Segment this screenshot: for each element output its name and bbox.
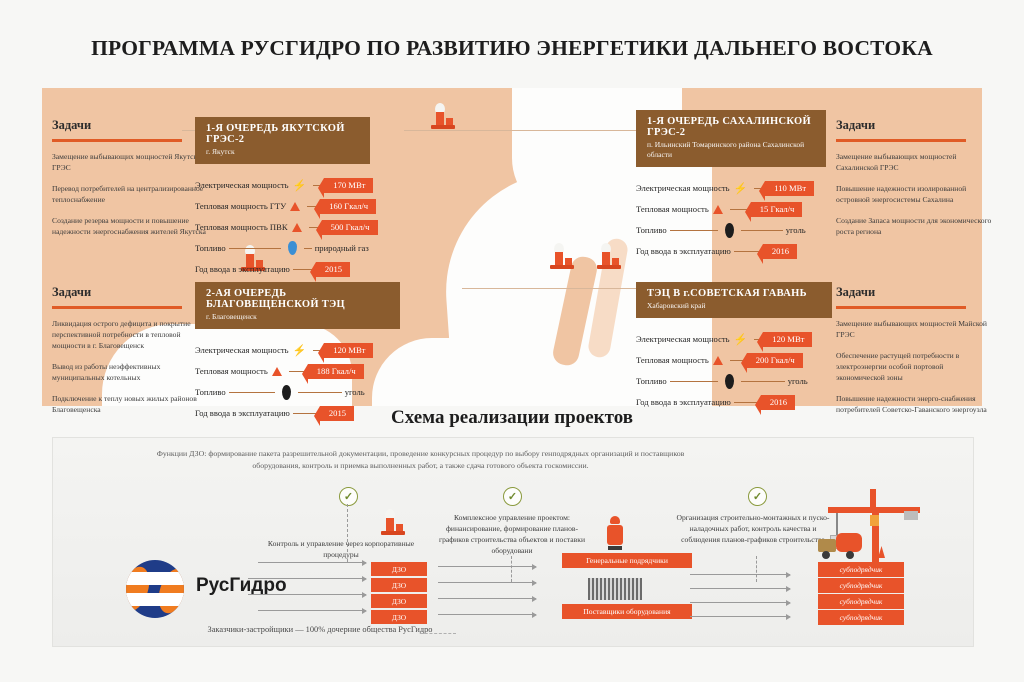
general-contractors-tag[interactable]: Генеральные подрядчики bbox=[562, 553, 692, 568]
task-item: Замещение выбывающих мощностей Якутской … bbox=[52, 151, 210, 173]
triangle-icon bbox=[292, 223, 302, 232]
bolt-icon: ⚡ bbox=[293, 344, 307, 357]
dzo-box[interactable]: ДЗО bbox=[371, 562, 427, 576]
station-name: ТЭЦ В г.СОВЕТСКАЯ ГАВАНЬ bbox=[647, 288, 823, 299]
row-label: Тепловая мощность bbox=[636, 204, 709, 214]
task-item: Перевод потребителей на централизированн… bbox=[52, 183, 210, 205]
flow-arrow bbox=[438, 598, 536, 599]
plant-icon-dzo bbox=[378, 512, 408, 538]
bolt-icon: ⚡ bbox=[734, 182, 748, 195]
flow-arrow bbox=[248, 594, 366, 595]
station-name: 1-Я ОЧЕРЕДЬ ЯКУТСКОЙ ГРЭС-2 bbox=[206, 123, 361, 145]
tasks-rule bbox=[52, 306, 182, 309]
row-value: 120 МВт bbox=[324, 343, 373, 358]
station-row: Топливо уголь bbox=[195, 382, 400, 403]
caption-project-management: Комплексное управление проектом: финанси… bbox=[432, 512, 592, 556]
station-row: Топливо уголь bbox=[636, 220, 826, 241]
dashed-line bbox=[420, 633, 456, 634]
station-row: Год ввода в эксплуатацию 2016 bbox=[636, 241, 826, 262]
row-label: Год ввода в эксплуатацию bbox=[636, 397, 731, 407]
row-value: 170 МВт bbox=[324, 178, 373, 193]
map-connector-4 bbox=[462, 288, 642, 289]
row-label: Топливо bbox=[636, 376, 667, 386]
subcontractor-box[interactable]: субподрядчик bbox=[818, 594, 904, 609]
dzo-functions-note: Функции ДЗО: формирование пакета разреши… bbox=[148, 448, 693, 472]
plant-marker-sovgavan bbox=[547, 246, 577, 272]
station-card-sakhalinskaya: 1-Я ОЧЕРЕДЬ САХАЛИНСКОЙ ГРЭС-2 п. Ильинс… bbox=[636, 110, 826, 262]
station-row: Год ввода в эксплуатацию 2015 bbox=[195, 259, 370, 280]
footer-note: Заказчики-застройщики — 100% дочерние об… bbox=[110, 625, 530, 634]
tasks-rule bbox=[836, 139, 966, 142]
dzo-box[interactable]: ДЗО bbox=[371, 578, 427, 592]
tasks-panel-sakhalin: Задачи Замещение выбывающих мощностей Са… bbox=[836, 118, 994, 247]
row-value: 120 МВт bbox=[763, 332, 812, 347]
dzo-box[interactable]: ДЗО bbox=[371, 594, 427, 608]
gas-drop-icon bbox=[288, 241, 297, 255]
row-label: Тепловая мощность bbox=[195, 366, 268, 376]
row-label: Электрическая мощность bbox=[636, 334, 730, 344]
row-value: 188 Гкал/ч bbox=[308, 364, 364, 379]
task-item: Повышение надежности изолированной остро… bbox=[836, 183, 994, 205]
tasks-heading: Задачи bbox=[52, 118, 210, 133]
flow-arrow bbox=[248, 578, 366, 579]
map-sea-south bbox=[372, 338, 672, 406]
flow-arrow bbox=[438, 582, 536, 583]
station-row: Тепловая мощность 15 Гкал/ч bbox=[636, 199, 826, 220]
flow-arrow bbox=[258, 610, 366, 611]
station-header: 1-Я ОЧЕРЕДЬ ЯКУТСКОЙ ГРЭС-2 г. Якутск bbox=[195, 117, 370, 164]
row-value: 500 Гкал/ч bbox=[322, 220, 378, 235]
station-row: Топливо природный газ bbox=[195, 238, 370, 259]
row-value: 160 Гкал/ч bbox=[320, 199, 376, 214]
triangle-icon bbox=[272, 367, 282, 376]
subcontractor-box[interactable]: субподрядчик bbox=[818, 578, 904, 593]
task-item: Обеспечение растущей потребности в элект… bbox=[836, 350, 994, 383]
task-item: Замещение выбывающих мощностей Сахалинск… bbox=[836, 151, 994, 173]
dashed-connector bbox=[756, 556, 757, 582]
caption-construction: Организация строительно-монтажных и пуск… bbox=[672, 512, 834, 545]
tasks-heading: Задачи bbox=[52, 285, 210, 300]
subcontractor-box[interactable]: субподрядчик bbox=[818, 562, 904, 577]
task-item: Вывод из работы неэффективных муниципаль… bbox=[52, 361, 210, 383]
station-rows: Электрическая мощность ⚡ 110 МВт Теплова… bbox=[636, 167, 826, 262]
station-card-blagoveshchenskaya: 2-АЯ ОЧЕРЕДЬ БЛАГОВЕЩЕНСКОЙ ТЭЦ г. Благо… bbox=[195, 282, 400, 424]
flow-arrow bbox=[690, 574, 790, 575]
row-label: Тепловая мощность bbox=[636, 355, 709, 365]
coal-icon bbox=[282, 385, 291, 400]
station-location: п. Ильинский Томаринского района Сахалин… bbox=[647, 140, 817, 160]
triangle-icon bbox=[713, 205, 723, 214]
caption-control: Контроль и управление через корпоративны… bbox=[252, 538, 430, 560]
tasks-rule bbox=[836, 306, 966, 309]
station-header: 1-Я ОЧЕРЕДЬ САХАЛИНСКОЙ ГРЭС-2 п. Ильинс… bbox=[636, 110, 826, 167]
equipment-suppliers-tag[interactable]: Поставщики оборудования bbox=[562, 604, 692, 619]
check-icon: ✓ bbox=[339, 487, 358, 506]
concrete-mixer-icon bbox=[818, 533, 866, 561]
task-item: Ликвидация острого дефицита и покрытие п… bbox=[52, 318, 210, 351]
row-label: Электрическая мощность bbox=[195, 345, 289, 355]
station-rows: Электрическая мощность ⚡ 170 МВт Теплова… bbox=[195, 164, 370, 280]
station-row: Топливо уголь bbox=[636, 371, 832, 392]
station-header: ТЭЦ В г.СОВЕТСКАЯ ГАВАНЬ Хабаровский кра… bbox=[636, 282, 832, 318]
worker-icon bbox=[604, 516, 626, 550]
flow-arrow bbox=[438, 614, 536, 615]
flow-arrow bbox=[690, 616, 790, 617]
dzo-box[interactable]: ДЗО bbox=[371, 610, 427, 624]
tasks-rule bbox=[52, 139, 182, 142]
station-row: Тепловая мощность ГТУ 160 Гкал/ч bbox=[195, 196, 370, 217]
tasks-heading: Задачи bbox=[836, 118, 994, 133]
coal-icon bbox=[725, 374, 734, 389]
station-row: Электрическая мощность ⚡ 170 МВт bbox=[195, 175, 370, 196]
task-item: Создание резерва мощности и повышение на… bbox=[52, 215, 210, 237]
triangle-icon bbox=[713, 356, 723, 365]
row-label: Топливо bbox=[636, 225, 667, 235]
task-item: Замещение выбывающих мощностей Майской Г… bbox=[836, 318, 994, 340]
row-value: 2015 bbox=[316, 262, 350, 277]
station-name: 2-АЯ ОЧЕРЕДЬ БЛАГОВЕЩЕНСКОЙ ТЭЦ bbox=[206, 288, 391, 310]
check-icon: ✓ bbox=[503, 487, 522, 506]
page-title: ПРОГРАММА РУСГИДРО ПО РАЗВИТИЮ ЭНЕРГЕТИК… bbox=[0, 36, 1024, 61]
row-label: Топливо bbox=[195, 387, 226, 397]
rushydro-logo-icon bbox=[126, 560, 188, 618]
row-value: 200 Гкал/ч bbox=[747, 353, 803, 368]
tasks-heading: Задачи bbox=[836, 285, 994, 300]
section-heading: Схема реализации проектов bbox=[0, 407, 1024, 429]
row-label: Тепловая мощность ГТУ bbox=[195, 201, 286, 211]
row-label: Топливо bbox=[195, 243, 226, 253]
station-location: Хабаровский край bbox=[647, 301, 823, 311]
tasks-panel-blagoveshchensk: Задачи Ликвидация острого дефицита и пок… bbox=[52, 285, 210, 425]
row-value: 2016 bbox=[763, 244, 797, 259]
station-location: г. Якутск bbox=[206, 147, 361, 157]
tasks-panel-sovgavan: Задачи Замещение выбывающих мощностей Ма… bbox=[836, 285, 994, 425]
flow-arrow bbox=[258, 562, 366, 563]
plant-marker-sakhalin bbox=[594, 246, 624, 272]
station-row: Тепловая мощность 200 Гкал/ч bbox=[636, 350, 832, 371]
task-item: Создание Запаса мощности для экономическ… bbox=[836, 215, 994, 237]
row-label: Электрическая мощность bbox=[636, 183, 730, 193]
row-value: природный газ bbox=[315, 243, 369, 253]
check-icon: ✓ bbox=[748, 487, 767, 506]
flow-arrow bbox=[690, 602, 790, 603]
station-header: 2-АЯ ОЧЕРЕДЬ БЛАГОВЕЩЕНСКОЙ ТЭЦ г. Благо… bbox=[195, 282, 400, 329]
station-location: г. Благовещенск bbox=[206, 312, 391, 322]
bolt-icon: ⚡ bbox=[734, 333, 748, 346]
station-row: Электрическая мощность ⚡ 120 МВт bbox=[195, 340, 400, 361]
triangle-icon bbox=[290, 202, 300, 211]
coal-icon bbox=[725, 223, 734, 238]
row-label: Электрическая мощность bbox=[195, 180, 289, 190]
dashed-connector bbox=[347, 504, 348, 562]
subcontractor-box[interactable]: субподрядчик bbox=[818, 610, 904, 625]
flow-arrow bbox=[690, 588, 790, 589]
row-label: Год ввода в эксплуатацию bbox=[195, 264, 290, 274]
station-row: Электрическая мощность ⚡ 120 МВт bbox=[636, 329, 832, 350]
row-label: Тепловая мощность ПВК bbox=[195, 222, 288, 232]
dashed-connector bbox=[511, 556, 512, 582]
plant-marker-yakutsk bbox=[428, 106, 458, 132]
row-value: уголь bbox=[345, 387, 365, 397]
station-row: Тепловая мощность 188 Гкал/ч bbox=[195, 361, 400, 382]
row-value: 110 МВт bbox=[765, 181, 814, 196]
row-value: 15 Гкал/ч bbox=[751, 202, 803, 217]
infographic-page: ПРОГРАММА РУСГИДРО ПО РАЗВИТИЮ ЭНЕРГЕТИК… bbox=[0, 0, 1024, 682]
station-card-yakutskaya: 1-Я ОЧЕРЕДЬ ЯКУТСКОЙ ГРЭС-2 г. Якутск Эл… bbox=[195, 117, 370, 280]
station-row: Электрическая мощность ⚡ 110 МВт bbox=[636, 178, 826, 199]
station-row: Тепловая мощность ПВК 500 Гкал/ч bbox=[195, 217, 370, 238]
bolt-icon: ⚡ bbox=[293, 179, 307, 192]
tasks-panel-yakutsk: Задачи Замещение выбывающих мощностей Як… bbox=[52, 118, 210, 247]
station-name: 1-Я ОЧЕРЕДЬ САХАЛИНСКОЙ ГРЭС-2 bbox=[647, 116, 817, 138]
equipment-icon bbox=[588, 578, 642, 600]
row-label: Год ввода в эксплуатацию bbox=[636, 246, 731, 256]
station-rows: Электрическая мощность ⚡ 120 МВт Теплова… bbox=[636, 318, 832, 413]
flow-arrow bbox=[438, 566, 536, 567]
station-card-sovetskaya-gavan: ТЭЦ В г.СОВЕТСКАЯ ГАВАНЬ Хабаровский кра… bbox=[636, 282, 832, 413]
row-value: уголь bbox=[786, 225, 806, 235]
row-value: уголь bbox=[788, 376, 808, 386]
